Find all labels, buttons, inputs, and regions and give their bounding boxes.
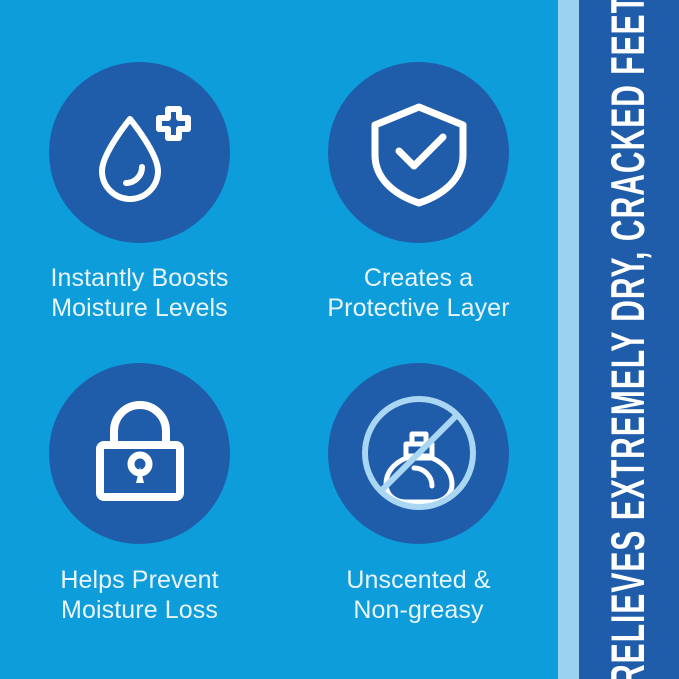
feature-icon-badge bbox=[49, 62, 230, 243]
feature-grid: Instantly Boosts Moisture Levels Creates… bbox=[0, 0, 558, 679]
feature-item-creates-a-protective-layer: Creates a Protective Layer bbox=[279, 0, 558, 340]
padlock-icon bbox=[80, 393, 200, 513]
feature-item-unscented-non-greasy: Unscented & Non-greasy bbox=[279, 340, 558, 679]
vertical-claim-banner: RELIEVES EXTREMELY DRY, CRACKED FEET bbox=[579, 0, 679, 679]
water-droplet-plus-icon bbox=[80, 93, 200, 213]
product-feature-graphic: Instantly Boosts Moisture Levels Creates… bbox=[0, 0, 679, 679]
feature-label: Instantly Boosts Moisture Levels bbox=[50, 263, 228, 323]
feature-label: Unscented & Non-greasy bbox=[346, 565, 490, 625]
shield-check-icon bbox=[359, 93, 479, 213]
feature-item-instantly-boosts-moisture-levels: Instantly Boosts Moisture Levels bbox=[0, 0, 279, 340]
feature-panel: Instantly Boosts Moisture Levels Creates… bbox=[0, 0, 558, 679]
banner-text-wrapper: RELIEVES EXTREMELY DRY, CRACKED FEET bbox=[612, 0, 646, 679]
no-fragrance-bottle-icon bbox=[356, 390, 482, 516]
feature-icon-badge bbox=[328, 62, 509, 243]
feature-icon-badge bbox=[328, 363, 509, 544]
feature-icon-badge bbox=[49, 363, 230, 544]
banner-claim-text: RELIEVES EXTREMELY DRY, CRACKED FEET bbox=[606, 0, 653, 679]
panel-separator bbox=[558, 0, 579, 679]
feature-item-helps-prevent-moisture-loss: Helps Prevent Moisture Loss bbox=[0, 340, 279, 679]
feature-label: Helps Prevent Moisture Loss bbox=[60, 565, 218, 625]
feature-label: Creates a Protective Layer bbox=[327, 263, 509, 323]
